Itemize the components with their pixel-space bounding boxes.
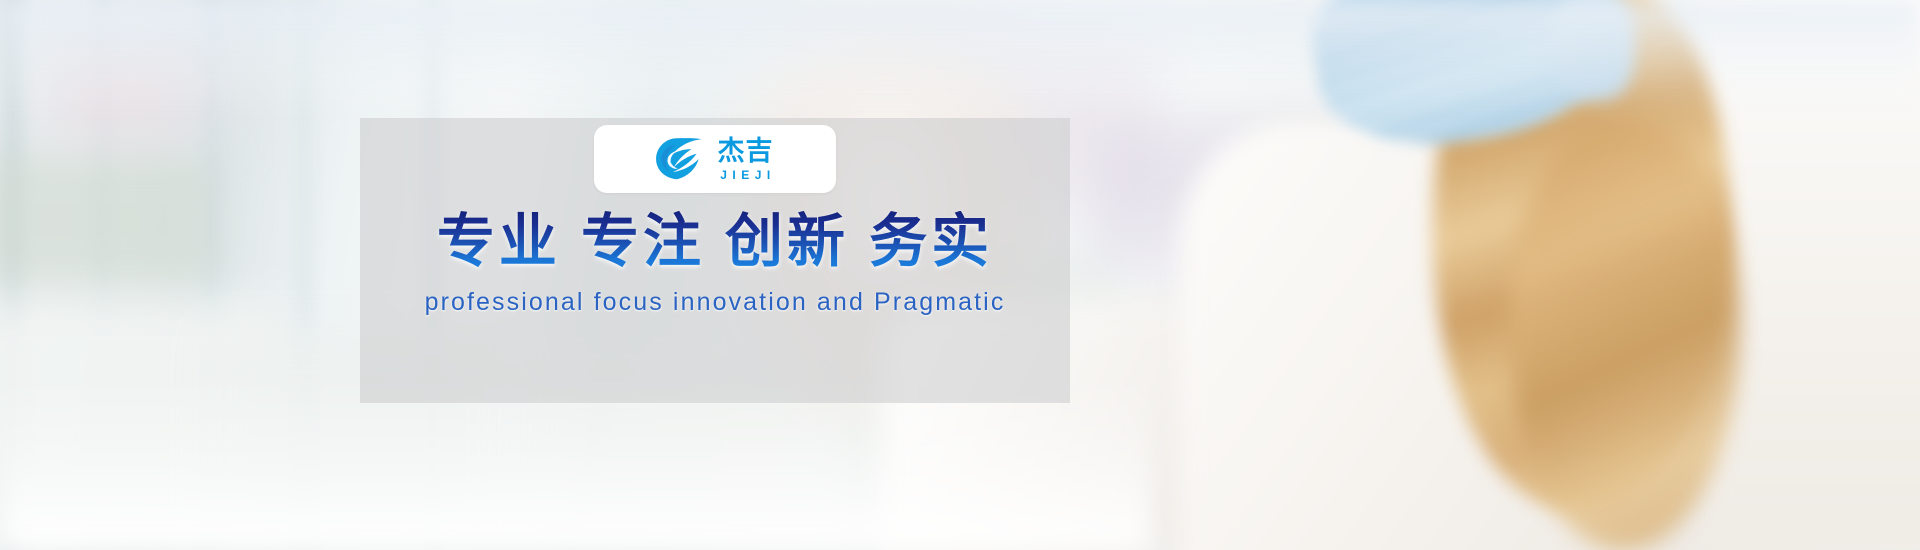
- background-top-light: [0, 0, 1920, 120]
- background-hair: [1510, 120, 1740, 550]
- slogan-headline: 专业 专注 创新 务实: [437, 211, 993, 274]
- hero-banner: 杰吉 JIEJI 专业 专注 创新 务实 professional focus …: [0, 0, 1920, 550]
- logo-latin-name: JIEJI: [715, 169, 776, 181]
- slogan-overlay-panel: 杰吉 JIEJI 专业 专注 创新 务实 professional focus …: [360, 118, 1070, 403]
- brand-logo-card[interactable]: 杰吉 JIEJI: [594, 125, 836, 193]
- background-counter: [0, 150, 220, 290]
- jieji-swoosh-logo-icon: [654, 133, 706, 185]
- logo-chinese-name: 杰吉: [718, 138, 774, 165]
- slogan-subheadline: professional focus innovation and Pragma…: [425, 288, 1006, 317]
